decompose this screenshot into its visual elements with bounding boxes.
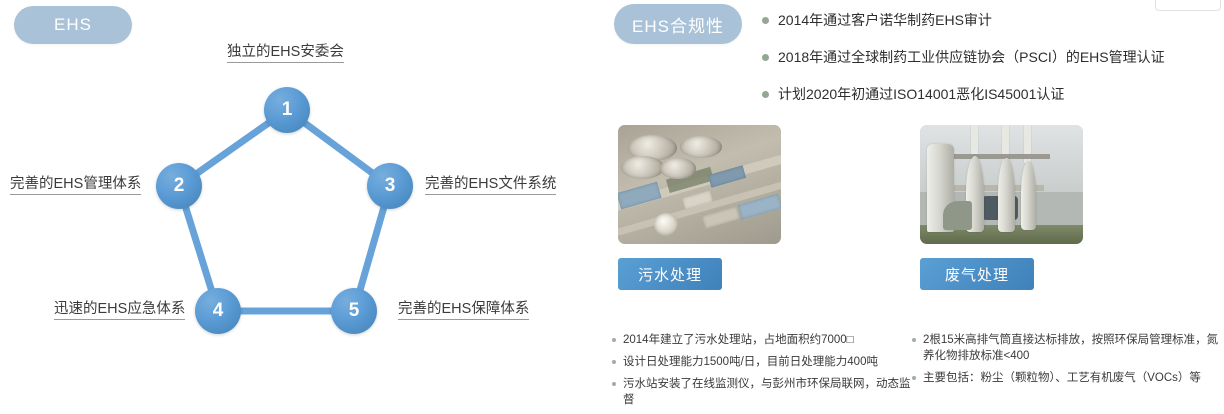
pentagon-label-1[interactable]: 独立的EHS安委会 — [227, 44, 344, 63]
wastewater-detail-list: 2014年建立了污水处理站，占地面积约7000□ 设计日处理能力1500吨/日，… — [612, 332, 912, 414]
bullet-dot-icon — [612, 338, 616, 342]
list-item: 2018年通过全球制药工业供应链协会（PSCI）的EHS管理认证 — [762, 47, 1222, 67]
pentagon-node-1[interactable]: 1 — [264, 87, 310, 133]
ehs-compliance-pill: EHS合规性 — [614, 4, 742, 44]
caption-label: 废气处理 — [945, 264, 1009, 285]
ehs-section-pill: EHS — [14, 6, 132, 44]
list-item: 设计日处理能力1500吨/日，目前日处理能力400吨 — [612, 354, 912, 370]
list-item: 污水站安装了在线监测仪，与彭州市环保局联网，动态监督 — [612, 376, 912, 408]
compliance-bullet-list: 2014年通过客户诺华制药EHS审计 2018年通过全球制药工业供应链协会（PS… — [762, 10, 1222, 121]
list-item: 主要包括：粉尘（颗粒物）、工艺有机废气（VOCs）等 — [912, 370, 1224, 386]
detail-text: 2根15米高排气筒直接达标排放，按照环保局管理标准，氮养化物排放标准<400 — [923, 332, 1224, 364]
wastewater-card: 污水处理 — [618, 125, 781, 290]
detail-text: 2014年建立了污水处理站，占地面积约7000□ — [623, 332, 854, 348]
node-number: 3 — [385, 175, 396, 197]
detail-text: 主要包括：粉尘（颗粒物）、工艺有机废气（VOCs）等 — [923, 370, 1201, 386]
pentagon-label-2[interactable]: 完善的EHS管理体系 — [10, 176, 141, 195]
waste-gas-card: 废气处理 — [920, 125, 1083, 290]
pentagon-label-3[interactable]: 完善的EHS文件系统 — [425, 176, 556, 195]
detail-text: 设计日处理能力1500吨/日，目前日处理能力400吨 — [623, 354, 878, 370]
wastewater-caption-button[interactable]: 污水处理 — [618, 258, 722, 290]
node-number: 4 — [213, 300, 224, 322]
pentagon-node-5[interactable]: 5 — [331, 288, 377, 334]
ehs-pill-label: EHS — [54, 15, 92, 35]
ehs-pentagon-diagram: 1 2 3 4 5 独立的EHS安委会 完善的EHS管理体系 完善的EHS文件系… — [0, 40, 600, 400]
list-item: 计划2020年初通过ISO14001恶化IS45001认证 — [762, 84, 1222, 104]
compliance-pill-label: EHS合规性 — [632, 12, 724, 37]
bullet-text: 2018年通过全球制药工业供应链协会（PSCI）的EHS管理认证 — [778, 47, 1165, 67]
waste-gas-detail-list: 2根15米高排气筒直接达标排放，按照环保局管理标准，氮养化物排放标准<400 主… — [912, 332, 1224, 392]
ehs-compliance-panel: EHS合规性 2014年通过客户诺华制药EHS审计 2018年通过全球制药工业供… — [600, 0, 1224, 400]
bullet-dot-icon — [762, 17, 769, 24]
node-number: 2 — [174, 175, 185, 197]
bullet-dot-icon — [912, 376, 916, 380]
pentagon-label-5[interactable]: 完善的EHS保障体系 — [398, 301, 529, 320]
pentagon-node-3[interactable]: 3 — [367, 163, 413, 209]
waste-gas-caption-button[interactable]: 废气处理 — [920, 258, 1034, 290]
node-number: 5 — [349, 300, 360, 322]
bullet-dot-icon — [612, 382, 616, 386]
bullet-dot-icon — [912, 338, 916, 342]
bullet-text: 计划2020年初通过ISO14001恶化IS45001认证 — [778, 84, 1064, 104]
bullet-dot-icon — [612, 360, 616, 364]
pentagon-node-2[interactable]: 2 — [156, 163, 202, 209]
detail-text: 污水站安装了在线监测仪，与彭州市环保局联网，动态监督 — [623, 376, 912, 408]
bullet-dot-icon — [762, 91, 769, 98]
caption-label: 污水处理 — [638, 264, 702, 285]
list-item: 2014年建立了污水处理站，占地面积约7000□ — [612, 332, 912, 348]
list-item: 2根15米高排气筒直接达标排放，按照环保局管理标准，氮养化物排放标准<400 — [912, 332, 1224, 364]
wastewater-treatment-plant-photo — [618, 125, 781, 244]
bullet-dot-icon — [762, 54, 769, 61]
pentagon-label-4[interactable]: 迅速的EHS应急体系 — [54, 301, 185, 320]
node-number: 1 — [282, 99, 293, 121]
pentagon-node-4[interactable]: 4 — [195, 288, 241, 334]
bullet-text: 2014年通过客户诺华制药EHS审计 — [778, 10, 992, 30]
waste-gas-treatment-equipment-photo — [920, 125, 1083, 244]
list-item: 2014年通过客户诺华制药EHS审计 — [762, 10, 1222, 30]
